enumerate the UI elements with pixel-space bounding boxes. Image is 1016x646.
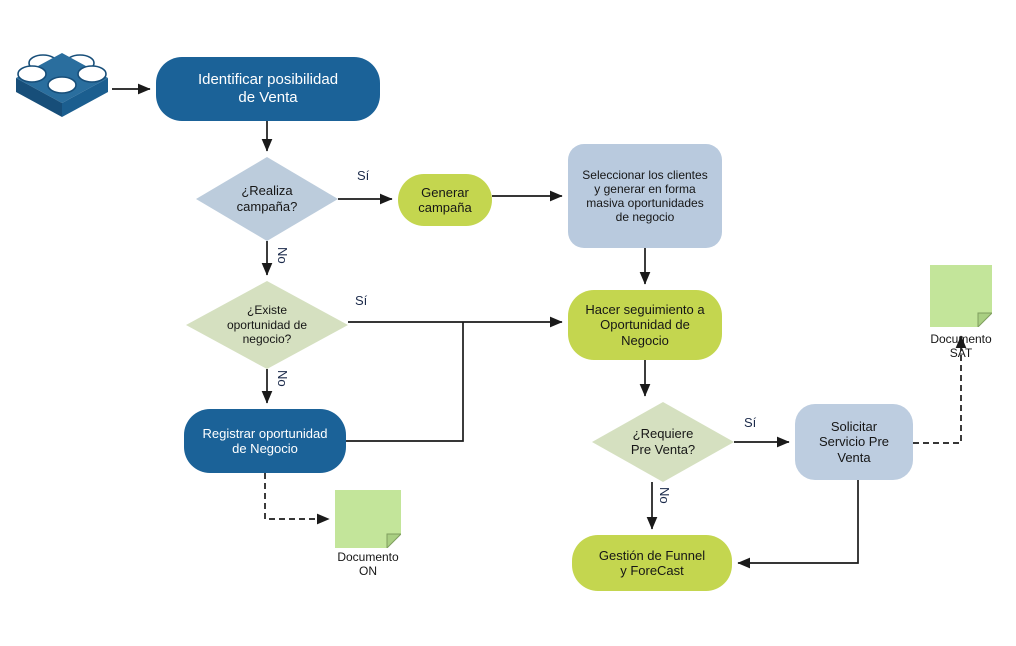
node-decision-existe-oportunidad[interactable]: ¿Existe oportunidad de negocio? [186, 281, 348, 369]
document-sat-label: Documento SAT [911, 332, 1011, 361]
document-sat-icon[interactable] [930, 265, 992, 327]
edge-label-no-preventa: No [657, 487, 672, 504]
edge-label-no-oportunidad: No [275, 370, 290, 387]
node-generar-campana[interactable]: Generar campaña [398, 174, 492, 226]
connector-layer [0, 0, 1016, 646]
edge-label-si-preventa: Sí [744, 415, 756, 430]
decision-label: ¿Existe oportunidad de negocio? [196, 303, 339, 346]
decision-label: ¿Requiere Pre Venta? [605, 426, 721, 457]
node-seleccionar-clientes[interactable]: Seleccionar los clientes y generar en fo… [568, 144, 722, 248]
edge-registrar-to-documento-on [265, 473, 329, 519]
edge-registrar-to-seguimiento [346, 322, 463, 441]
node-solicitar-servicio-preventa[interactable]: Solicitar Servicio Pre Venta [795, 404, 913, 480]
edge-solicitar-to-gestion [738, 480, 858, 563]
decision-label: ¿Realiza campaña? [209, 183, 325, 214]
flowchart-canvas: Identificar posibilidad de Venta Generar… [0, 0, 1016, 646]
lego-brick-icon [10, 45, 114, 123]
document-on-label: Documento ON [318, 550, 418, 579]
node-gestion-funnel-forecast[interactable]: Gestión de Funnel y ForeCast [572, 535, 732, 591]
node-registrar-oportunidad[interactable]: Registrar oportunidad de Negocio [184, 409, 346, 473]
edge-label-no-campana: No [275, 247, 290, 264]
edge-label-si-oportunidad: Sí [355, 293, 367, 308]
node-identificar-posibilidad-venta[interactable]: Identificar posibilidad de Venta [156, 57, 380, 121]
document-on-icon[interactable] [335, 490, 401, 548]
node-hacer-seguimiento-oportunidad[interactable]: Hacer seguimiento a Oportunidad de Negoc… [568, 290, 722, 360]
node-decision-requiere-preventa[interactable]: ¿Requiere Pre Venta? [592, 402, 734, 482]
edge-label-si-campana: Sí [357, 168, 369, 183]
node-decision-realiza-campana[interactable]: ¿Realiza campaña? [196, 157, 338, 241]
